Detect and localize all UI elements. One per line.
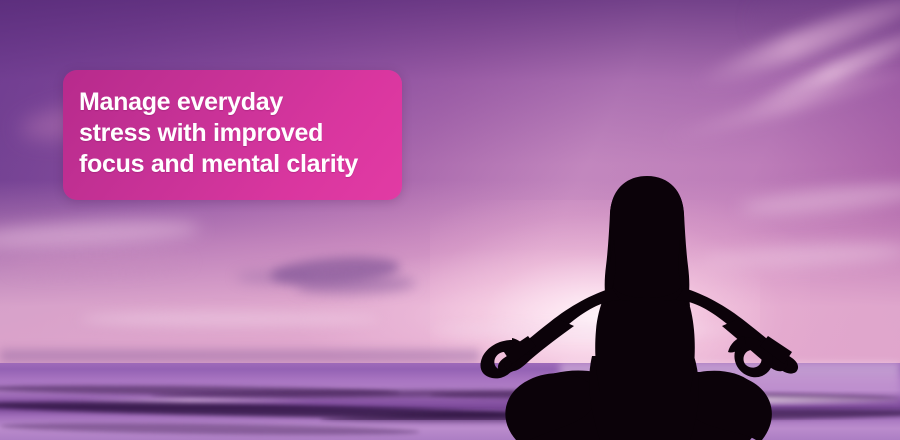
caption-box: Manage everyday stress with improved foc… <box>63 70 402 200</box>
caption-line-3: focus and mental clarity <box>79 149 391 180</box>
caption-line-1: Manage everyday <box>79 87 391 118</box>
meditating-woman-silhouette <box>0 0 900 440</box>
meditation-hero-banner: Manage everyday stress with improved foc… <box>0 0 900 440</box>
hair-mass-shape <box>610 177 684 298</box>
caption-text: Manage everyday stress with improved foc… <box>79 87 391 180</box>
caption-line-2: stress with improved <box>79 118 391 149</box>
